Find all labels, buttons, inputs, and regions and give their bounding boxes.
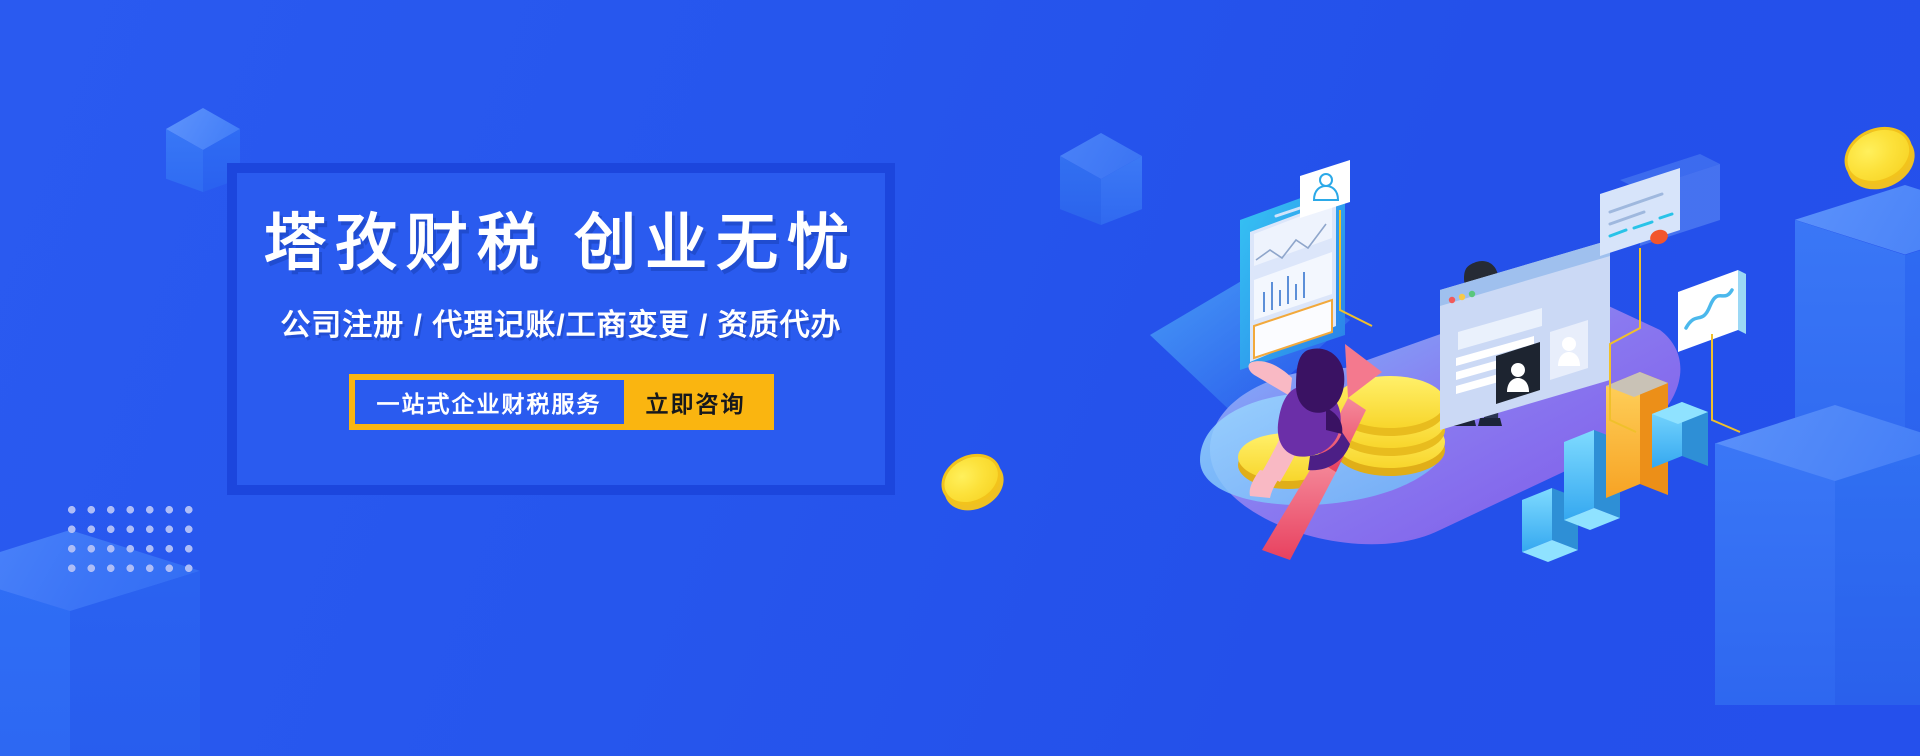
cta-tagline: 一站式企业财税服务 [355,380,624,424]
service-list-subtitle: 公司注册 / 代理记账/工商变更 / 资质代办 [280,300,841,344]
coin-face [933,444,1010,515]
cube-face-right [1835,443,1920,705]
finance-illustration [1140,120,1780,590]
cta-group: 一站式企业财税服务 立即咨询 [349,374,774,430]
consult-now-button[interactable]: 立即咨询 [624,380,768,424]
dot-grid-pattern [62,500,202,572]
cube-above-panel-icon [1060,133,1142,225]
promo-banner: 塔孜财税 创业无忧 公司注册 / 代理记账/工商变更 / 资质代办 一站式企业财… [0,0,1920,756]
page-title: 塔孜财税 创业无忧 [264,211,858,276]
headline-panel: 塔孜财税 创业无忧 公司注册 / 代理记账/工商变更 / 资质代办 一站式企业财… [227,163,895,495]
credit-card-icon [1600,154,1720,256]
coin-face [1835,116,1920,194]
gold-coin-icon [933,444,1014,522]
smartphone-dashboard-icon [1240,182,1345,370]
headline-panel-content: 塔孜财税 创业无忧 公司注册 / 代理记账/工商变更 / 资质代办 一站式企业财… [237,173,885,485]
